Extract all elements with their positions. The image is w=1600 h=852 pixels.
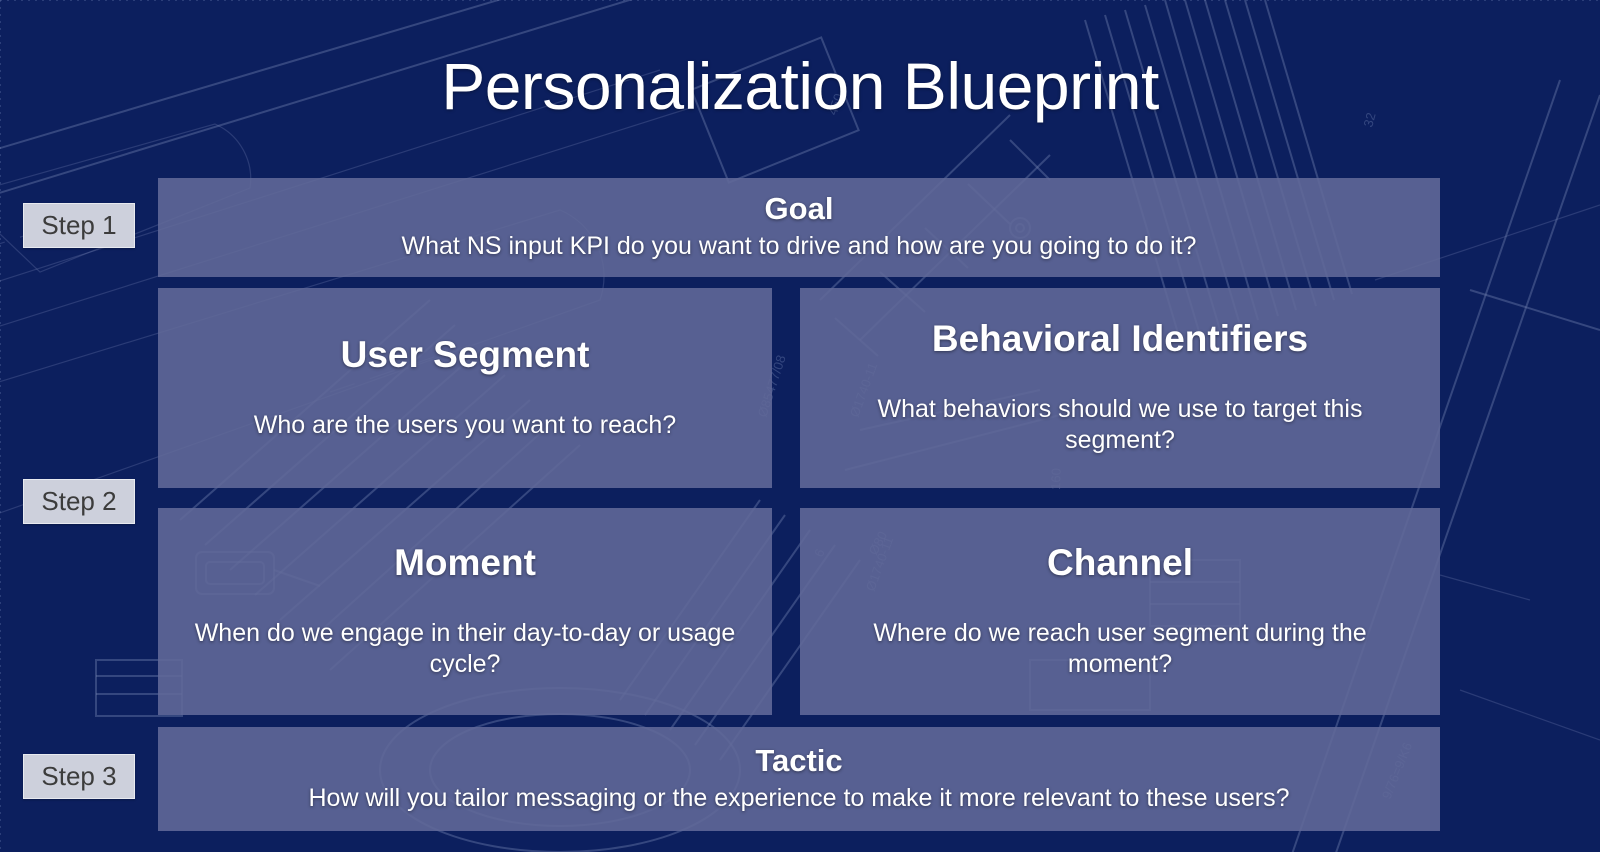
step-badge-3-label: Step 3 — [41, 761, 116, 792]
card-user-segment-title: User Segment — [341, 335, 590, 376]
step-badge-2: Step 2 — [23, 479, 135, 524]
card-behavioral-identifiers[interactable]: Behavioral Identifiers What behaviors sh… — [800, 288, 1440, 488]
card-behavioral-identifiers-description: What behaviors should we use to target t… — [840, 394, 1400, 457]
card-tactic[interactable]: Tactic How will you tailor messaging or … — [158, 727, 1440, 831]
page-title: Personalization Blueprint — [0, 52, 1600, 121]
step-badge-3: Step 3 — [23, 754, 135, 799]
card-behavioral-identifiers-title: Behavioral Identifiers — [932, 319, 1308, 360]
card-channel-title: Channel — [1047, 543, 1193, 584]
card-channel[interactable]: Channel Where do we reach user segment d… — [800, 508, 1440, 715]
step-badge-1-label: Step 1 — [41, 210, 116, 241]
card-goal[interactable]: Goal What NS input KPI do you want to dr… — [158, 178, 1440, 277]
card-user-segment[interactable]: User Segment Who are the users you want … — [158, 288, 772, 488]
step-badge-2-label: Step 2 — [41, 486, 116, 517]
card-goal-title: Goal — [765, 192, 834, 226]
card-moment-description: When do we engage in their day-to-day or… — [185, 618, 745, 681]
card-goal-description: What NS input KPI do you want to drive a… — [402, 231, 1197, 262]
card-channel-description: Where do we reach user segment during th… — [840, 618, 1400, 681]
card-moment[interactable]: Moment When do we engage in their day-to… — [158, 508, 772, 715]
card-user-segment-description: Who are the users you want to reach? — [254, 410, 676, 441]
step-badge-1: Step 1 — [23, 203, 135, 248]
card-tactic-title: Tactic — [755, 744, 842, 778]
card-tactic-description: How will you tailor messaging or the exp… — [308, 783, 1289, 814]
personalization-blueprint-slide: 450 160 32 Ø85477/08 Ø1740-11 Ø1740-11 Ø… — [0, 0, 1600, 852]
card-moment-title: Moment — [394, 543, 536, 584]
